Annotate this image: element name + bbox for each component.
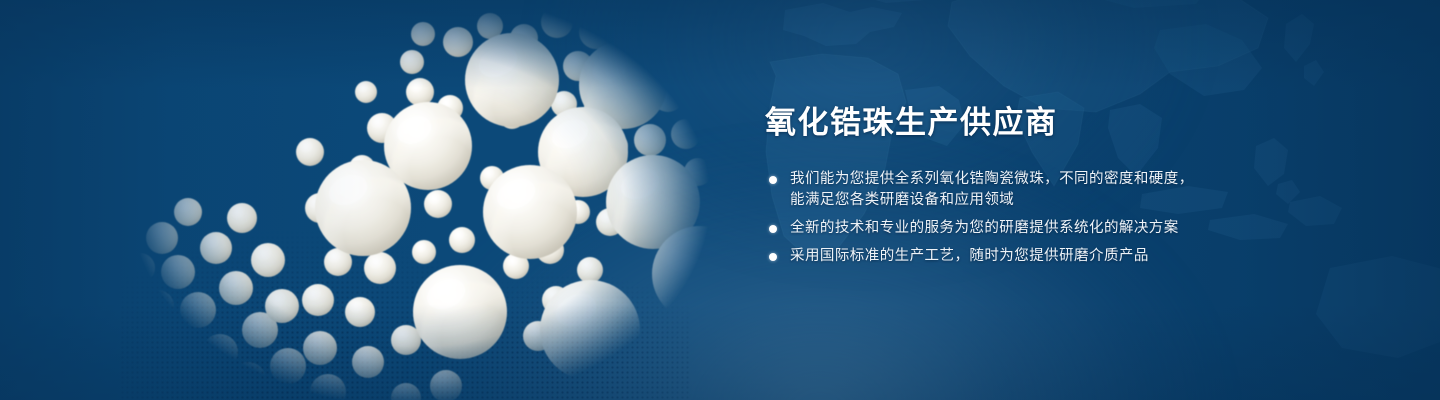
list-item-line: 采用国际标准的生产工艺，随时为您提供研磨介质产品 bbox=[790, 246, 1405, 267]
list-item-line: 全新的技术和专业的服务为您的研磨提供系统化的解决方案 bbox=[790, 218, 1405, 239]
list-item-line: 我们能为您提供全系列氧化锆陶瓷微珠，不同的密度和硬度， bbox=[790, 169, 1405, 190]
list-item: 全新的技术和专业的服务为您的研磨提供系统化的解决方案 bbox=[765, 218, 1405, 239]
page-title: 氧化锆珠生产供应商 bbox=[765, 104, 1405, 143]
bullet-dot-icon bbox=[769, 253, 777, 261]
list-item: 采用国际标准的生产工艺，随时为您提供研磨介质产品 bbox=[765, 246, 1405, 267]
list-item: 我们能为您提供全系列氧化锆陶瓷微珠，不同的密度和硬度， 能满足您各类研磨设备和应… bbox=[765, 169, 1405, 211]
hero-banner: 氧化锆珠生产供应商 我们能为您提供全系列氧化锆陶瓷微珠，不同的密度和硬度， 能满… bbox=[0, 0, 1440, 400]
bullet-dot-icon bbox=[769, 176, 777, 184]
banner-copy: 氧化锆珠生产供应商 我们能为您提供全系列氧化锆陶瓷微珠，不同的密度和硬度， 能满… bbox=[765, 104, 1405, 267]
bullet-dot-icon bbox=[769, 225, 777, 233]
feature-list: 我们能为您提供全系列氧化锆陶瓷微珠，不同的密度和硬度， 能满足您各类研磨设备和应… bbox=[765, 169, 1405, 267]
list-item-line: 能满足您各类研磨设备和应用领域 bbox=[790, 190, 1405, 211]
